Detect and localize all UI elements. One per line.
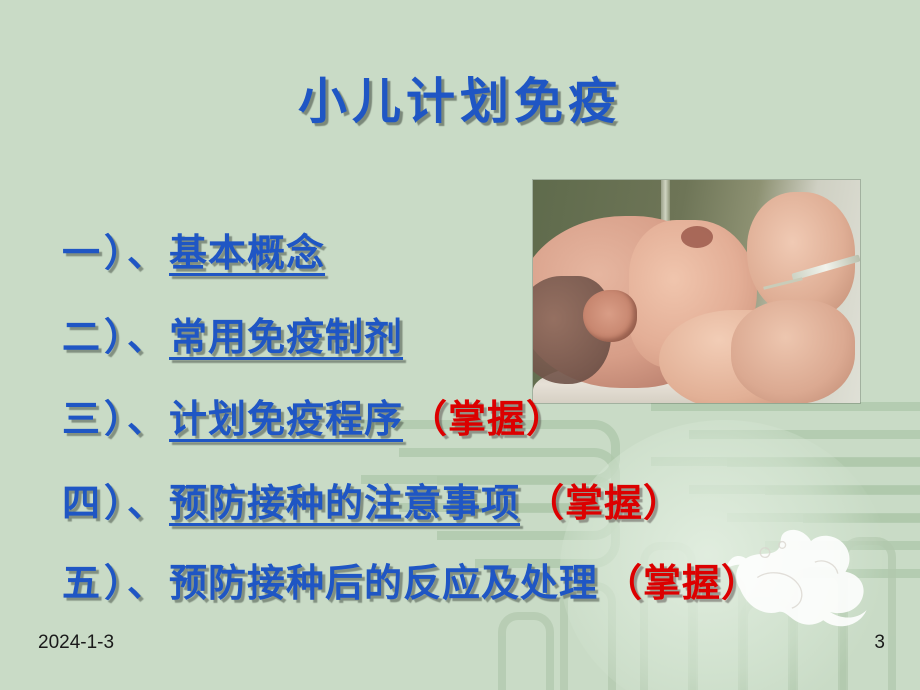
photo-nurse-hand-lower <box>731 300 855 403</box>
presentation-slide: 小儿计划免疫 一）、基本概念 二）、常用免疫制剂 三）、计划免疫程序（掌握） 四… <box>0 0 920 690</box>
outline-item-3-link[interactable]: 计划免疫程序 <box>169 397 403 441</box>
slide-title: 小儿计划免疫 <box>0 62 920 133</box>
slide-page-number: 3 <box>874 632 885 654</box>
outline-item-4-note: （掌握） <box>526 481 682 525</box>
outline-item-4-number: 四）、 <box>62 481 169 525</box>
outline-item-2-link[interactable]: 常用免疫制剂 <box>169 315 403 359</box>
photo-infant-ear <box>583 290 637 342</box>
outline-item-1-link[interactable]: 基本概念 <box>169 231 325 275</box>
outline-item-1-number: 一）、 <box>62 231 169 275</box>
outline-item-3-number: 三）、 <box>62 397 169 441</box>
outline-item-5-number: 五）、 <box>62 561 169 605</box>
slide-date: 2024-1-3 <box>38 632 114 654</box>
outline-item-2[interactable]: 二）、常用免疫制剂 <box>62 306 409 361</box>
outline-item-1[interactable]: 一）、基本概念 <box>62 222 331 277</box>
outline-item-2-number: 二）、 <box>62 315 169 359</box>
outline-item-3-note: （掌握） <box>409 397 565 441</box>
outline-item-5-link[interactable]: 预防接种后的反应及处理 <box>169 561 598 605</box>
photo-infant-mouth <box>681 226 713 248</box>
outline-item-4[interactable]: 四）、预防接种的注意事项（掌握） <box>62 472 682 527</box>
infant-vaccination-photo <box>533 180 860 403</box>
outline-item-5-note: （掌握） <box>604 561 760 605</box>
outline-item-4-link[interactable]: 预防接种的注意事项 <box>169 481 520 525</box>
outline-item-5[interactable]: 五）、预防接种后的反应及处理（掌握） <box>62 552 760 607</box>
outline-item-3[interactable]: 三）、计划免疫程序（掌握） <box>62 388 565 443</box>
